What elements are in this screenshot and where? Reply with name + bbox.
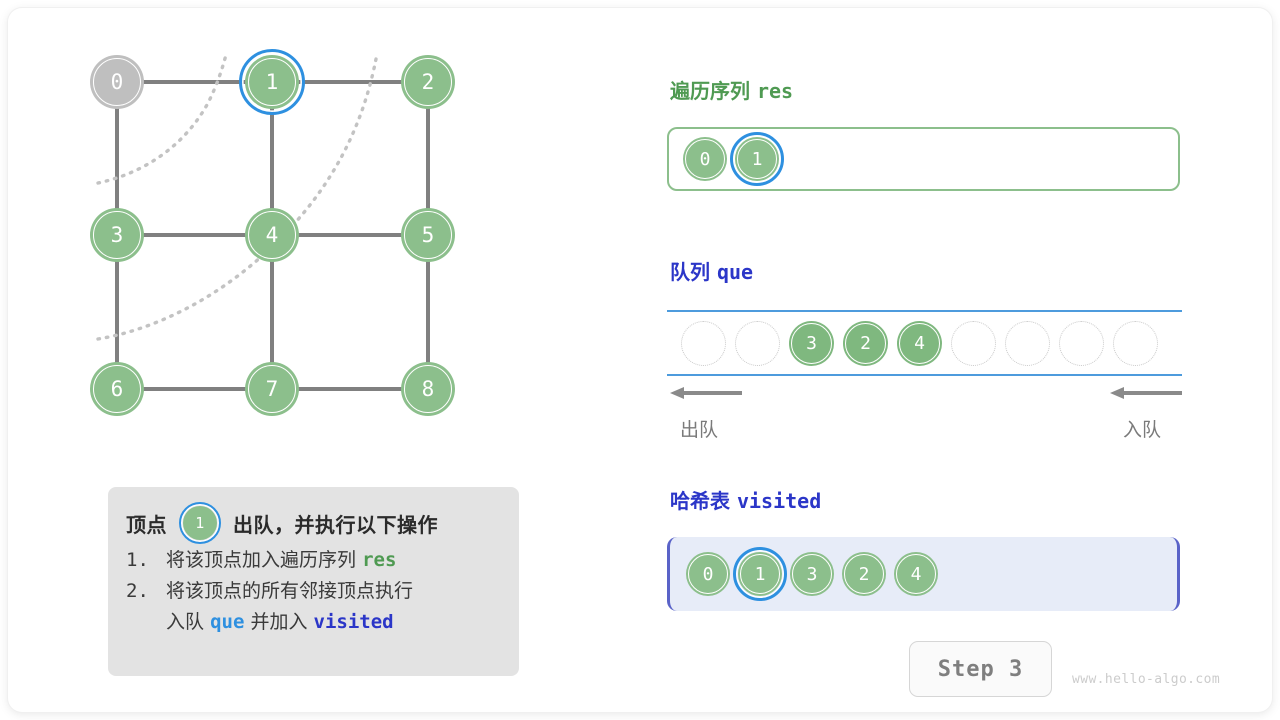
- caption-step-2-number: 2.: [126, 576, 166, 607]
- chip-label: 0: [700, 149, 711, 170]
- caption-visited-code: visited: [314, 611, 394, 633]
- queue-title-code: que: [717, 260, 753, 284]
- caption-que-code: que: [210, 611, 244, 633]
- chip-label: 1: [755, 564, 766, 585]
- frontier-curve-2: [98, 59, 376, 339]
- queue-slot-6[interactable]: [1005, 321, 1050, 366]
- graph-node-2[interactable]: 2: [401, 55, 455, 109]
- caption-indent-spacer: [126, 607, 166, 638]
- graph-node-0[interactable]: 0: [90, 55, 144, 109]
- chip-label: 0: [703, 564, 714, 585]
- caption-step-1: 1. 将该顶点加入遍历序列 res: [126, 545, 501, 576]
- queue-slot-1[interactable]: [735, 321, 780, 366]
- visited-item-3[interactable]: 3: [790, 552, 834, 596]
- queue-slot-label: 2: [860, 333, 871, 354]
- queue-section-title: 队列 que: [670, 256, 753, 285]
- chip-label: 2: [859, 564, 870, 585]
- visited-section-title: 哈希表 visited: [670, 485, 821, 514]
- res-list-box: 01: [667, 127, 1180, 191]
- queue-slot-4[interactable]: 4: [897, 321, 942, 366]
- graph-node-6[interactable]: 6: [90, 362, 144, 416]
- caption-step-2-line2-text: 入队 que 并加入 visited: [166, 607, 394, 638]
- queue-slot-7[interactable]: [1059, 321, 1104, 366]
- watermark: www.hello-algo.com: [1072, 672, 1220, 687]
- caption-and-add-word: 并加入: [250, 611, 307, 633]
- queue-slot-0[interactable]: [681, 321, 726, 366]
- dequeue-arrow-icon: [668, 384, 746, 402]
- queue-slot-3[interactable]: 2: [843, 321, 888, 366]
- graph-node-label: 7: [266, 379, 279, 400]
- res-section-title: 遍历序列 res: [670, 75, 793, 104]
- dequeue-label: 出队: [680, 415, 718, 442]
- caption-step-2-text: 将该顶点的所有邻接顶点执行: [166, 576, 413, 607]
- caption-step-1-text: 将该顶点加入遍历序列 res: [166, 545, 396, 576]
- visited-set-box: 01324: [667, 537, 1180, 611]
- visited-item-2[interactable]: 2: [842, 552, 886, 596]
- queue-slot-8[interactable]: [1113, 321, 1158, 366]
- graph-node-4[interactable]: 4: [245, 208, 299, 262]
- queue-slot-label: 3: [806, 333, 817, 354]
- res-title-cn: 遍历序列: [670, 79, 750, 103]
- res-item-0[interactable]: 0: [683, 137, 727, 181]
- graph-node-7[interactable]: 7: [245, 362, 299, 416]
- graph-node-label: 4: [266, 225, 279, 246]
- graph-node-8[interactable]: 8: [401, 362, 455, 416]
- caption-node-chip: 1: [183, 506, 217, 540]
- visited-item-4[interactable]: 4: [894, 552, 938, 596]
- caption-prefix: 顶点: [126, 509, 167, 538]
- caption-step-1-text-before: 将该顶点加入遍历序列: [166, 549, 356, 571]
- chip-label: 3: [807, 564, 818, 585]
- step-badge: Step 3: [909, 641, 1052, 697]
- operation-caption-box: 顶点 1 出队，并执行以下操作 1. 将该顶点加入遍历序列 res 2. 将该顶…: [108, 487, 519, 676]
- caption-step-1-number: 1.: [126, 545, 166, 576]
- graph-node-label: 1: [266, 72, 279, 93]
- queue-title-cn: 队列: [670, 260, 710, 284]
- screenshot-root: 012345678 顶点 1 出队，并执行以下操作 1. 将该顶点加入遍历序列 …: [0, 0, 1280, 720]
- graph-node-label: 5: [422, 225, 435, 246]
- caption-heading: 顶点 1 出队，并执行以下操作: [126, 501, 501, 545]
- visited-item-0[interactable]: 0: [686, 552, 730, 596]
- enqueue-label: 入队: [1123, 415, 1161, 442]
- caption-step-2: 2. 将该顶点的所有邻接顶点执行: [126, 576, 501, 607]
- queue-rail: 324: [667, 310, 1182, 376]
- visited-title-cn: 哈希表: [670, 489, 730, 513]
- res-title-code: res: [757, 79, 793, 103]
- bfs-frontier-curves: [98, 55, 376, 339]
- caption-node-label: 1: [195, 514, 205, 532]
- graph-node-label: 6: [111, 379, 124, 400]
- chip-label: 4: [911, 564, 922, 585]
- graph-node-label: 2: [422, 72, 435, 93]
- graph-panel: 012345678: [90, 55, 530, 475]
- graph-edges-svg: [90, 55, 530, 475]
- enqueue-arrow-icon: [1108, 384, 1186, 402]
- graph-node-5[interactable]: 5: [401, 208, 455, 262]
- graph-node-label: 8: [422, 379, 435, 400]
- caption-step-2-line2: 入队 que 并加入 visited: [126, 607, 501, 638]
- graph-node-3[interactable]: 3: [90, 208, 144, 262]
- res-item-1[interactable]: 1: [735, 137, 779, 181]
- queue-slot-2[interactable]: 3: [789, 321, 834, 366]
- graph-node-label: 3: [111, 225, 124, 246]
- caption-enqueue-word: 入队: [166, 611, 204, 633]
- caption-step-1-code: res: [362, 549, 396, 571]
- visited-item-1[interactable]: 1: [738, 552, 782, 596]
- caption-suffix: 出队，并执行以下操作: [233, 509, 438, 538]
- visited-title-code: visited: [737, 489, 821, 513]
- queue-slot-5[interactable]: [951, 321, 996, 366]
- graph-node-label: 0: [111, 72, 124, 93]
- queue-slot-label: 4: [914, 333, 925, 354]
- graph-node-1[interactable]: 1: [245, 55, 299, 109]
- chip-label: 1: [752, 149, 763, 170]
